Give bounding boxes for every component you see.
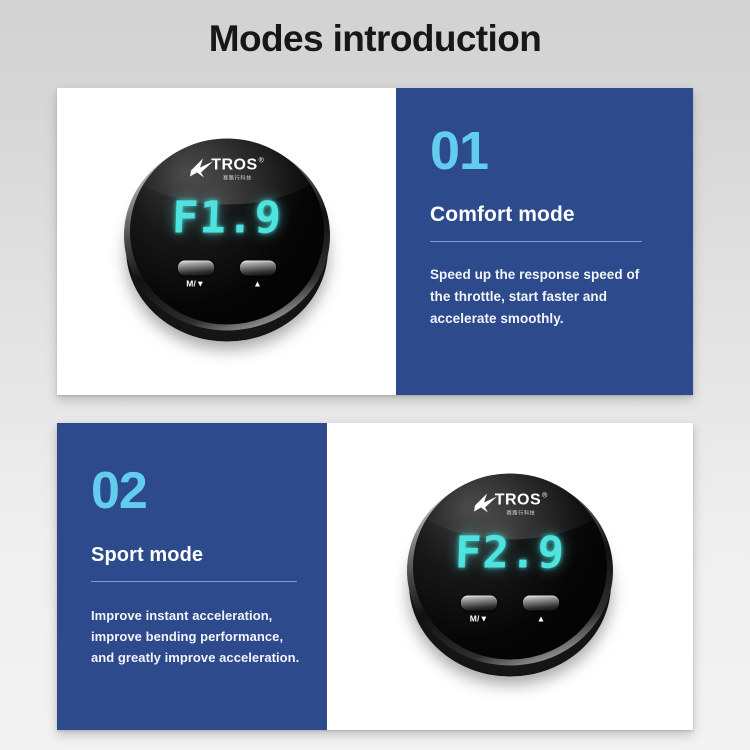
- mode-down-button-cap[interactable]: [178, 260, 214, 275]
- info-panel-sport: 02 Sport mode Improve instant accelerati…: [57, 423, 327, 730]
- mode-description-sport: Improve instant acceleration, improve be…: [91, 605, 301, 668]
- throttle-controller-device-1[interactable]: TROS® 赛路行科技 F1.9 M/▼ ▲: [122, 134, 332, 349]
- mode-down-button-cap[interactable]: [461, 595, 497, 610]
- up-button-2[interactable]: ▲: [523, 595, 559, 623]
- registered-trademark-icon: ®: [259, 158, 264, 165]
- mode-name-comfort: Comfort mode: [430, 203, 663, 227]
- up-button-label: ▲: [523, 613, 559, 623]
- device-face: TROS® 赛路行科技 F1.9 M/▼ ▲: [130, 138, 324, 324]
- page-title: Modes introduction: [0, 18, 750, 60]
- brand-subtitle: 赛路行科技: [495, 510, 548, 516]
- mode-down-button-label: M/▼: [461, 613, 497, 623]
- mode-name-sport: Sport mode: [91, 544, 301, 567]
- led-display-value-2: F2.9: [413, 527, 607, 578]
- mode-card-comfort: TROS® 赛路行科技 F1.9 M/▼ ▲: [57, 88, 693, 395]
- brand-text-block: TROS® 赛路行科技: [211, 156, 264, 181]
- throttle-controller-device-2[interactable]: TROS® 赛路行科技 F2.9 M/▼ ▲: [405, 469, 615, 684]
- up-button-cap[interactable]: [523, 595, 559, 610]
- info-panel-comfort: 01 Comfort mode Speed up the response sp…: [396, 88, 693, 395]
- device-button-row-1: M/▼ ▲: [130, 260, 324, 288]
- mode-description-comfort: Speed up the response speed of the throt…: [430, 264, 663, 330]
- device-panel-sport: TROS® 赛路行科技 F2.9 M/▼ ▲: [327, 423, 693, 730]
- brand-name: TROS: [211, 157, 257, 173]
- up-button-1[interactable]: ▲: [240, 260, 276, 288]
- mode-number-02: 02: [91, 465, 301, 517]
- brand-logo: TROS® 赛路行科技: [130, 156, 324, 181]
- mode-down-button-label: M/▼: [178, 278, 214, 288]
- device-panel-comfort: TROS® 赛路行科技 F1.9 M/▼ ▲: [57, 88, 396, 395]
- mode-down-button-1[interactable]: M/▼: [178, 260, 214, 288]
- brand-text-block: TROS® 赛路行科技: [495, 491, 548, 516]
- mode-card-sport: 02 Sport mode Improve instant accelerati…: [57, 423, 693, 730]
- device-button-row-2: M/▼ ▲: [413, 595, 607, 623]
- mode-down-button-2[interactable]: M/▼: [461, 595, 497, 623]
- brand-subtitle: 赛路行科技: [211, 175, 264, 181]
- divider: [430, 241, 642, 242]
- mode-number-01: 01: [430, 124, 663, 178]
- divider: [91, 581, 297, 582]
- up-button-cap[interactable]: [240, 260, 276, 275]
- brand-name: TROS: [495, 492, 541, 508]
- device-face: TROS® 赛路行科技 F2.9 M/▼ ▲: [413, 473, 607, 659]
- registered-trademark-icon: ®: [542, 493, 547, 500]
- brand-logo: TROS® 赛路行科技: [413, 491, 607, 516]
- up-button-label: ▲: [240, 278, 276, 288]
- led-display-value-1: F1.9: [130, 192, 324, 243]
